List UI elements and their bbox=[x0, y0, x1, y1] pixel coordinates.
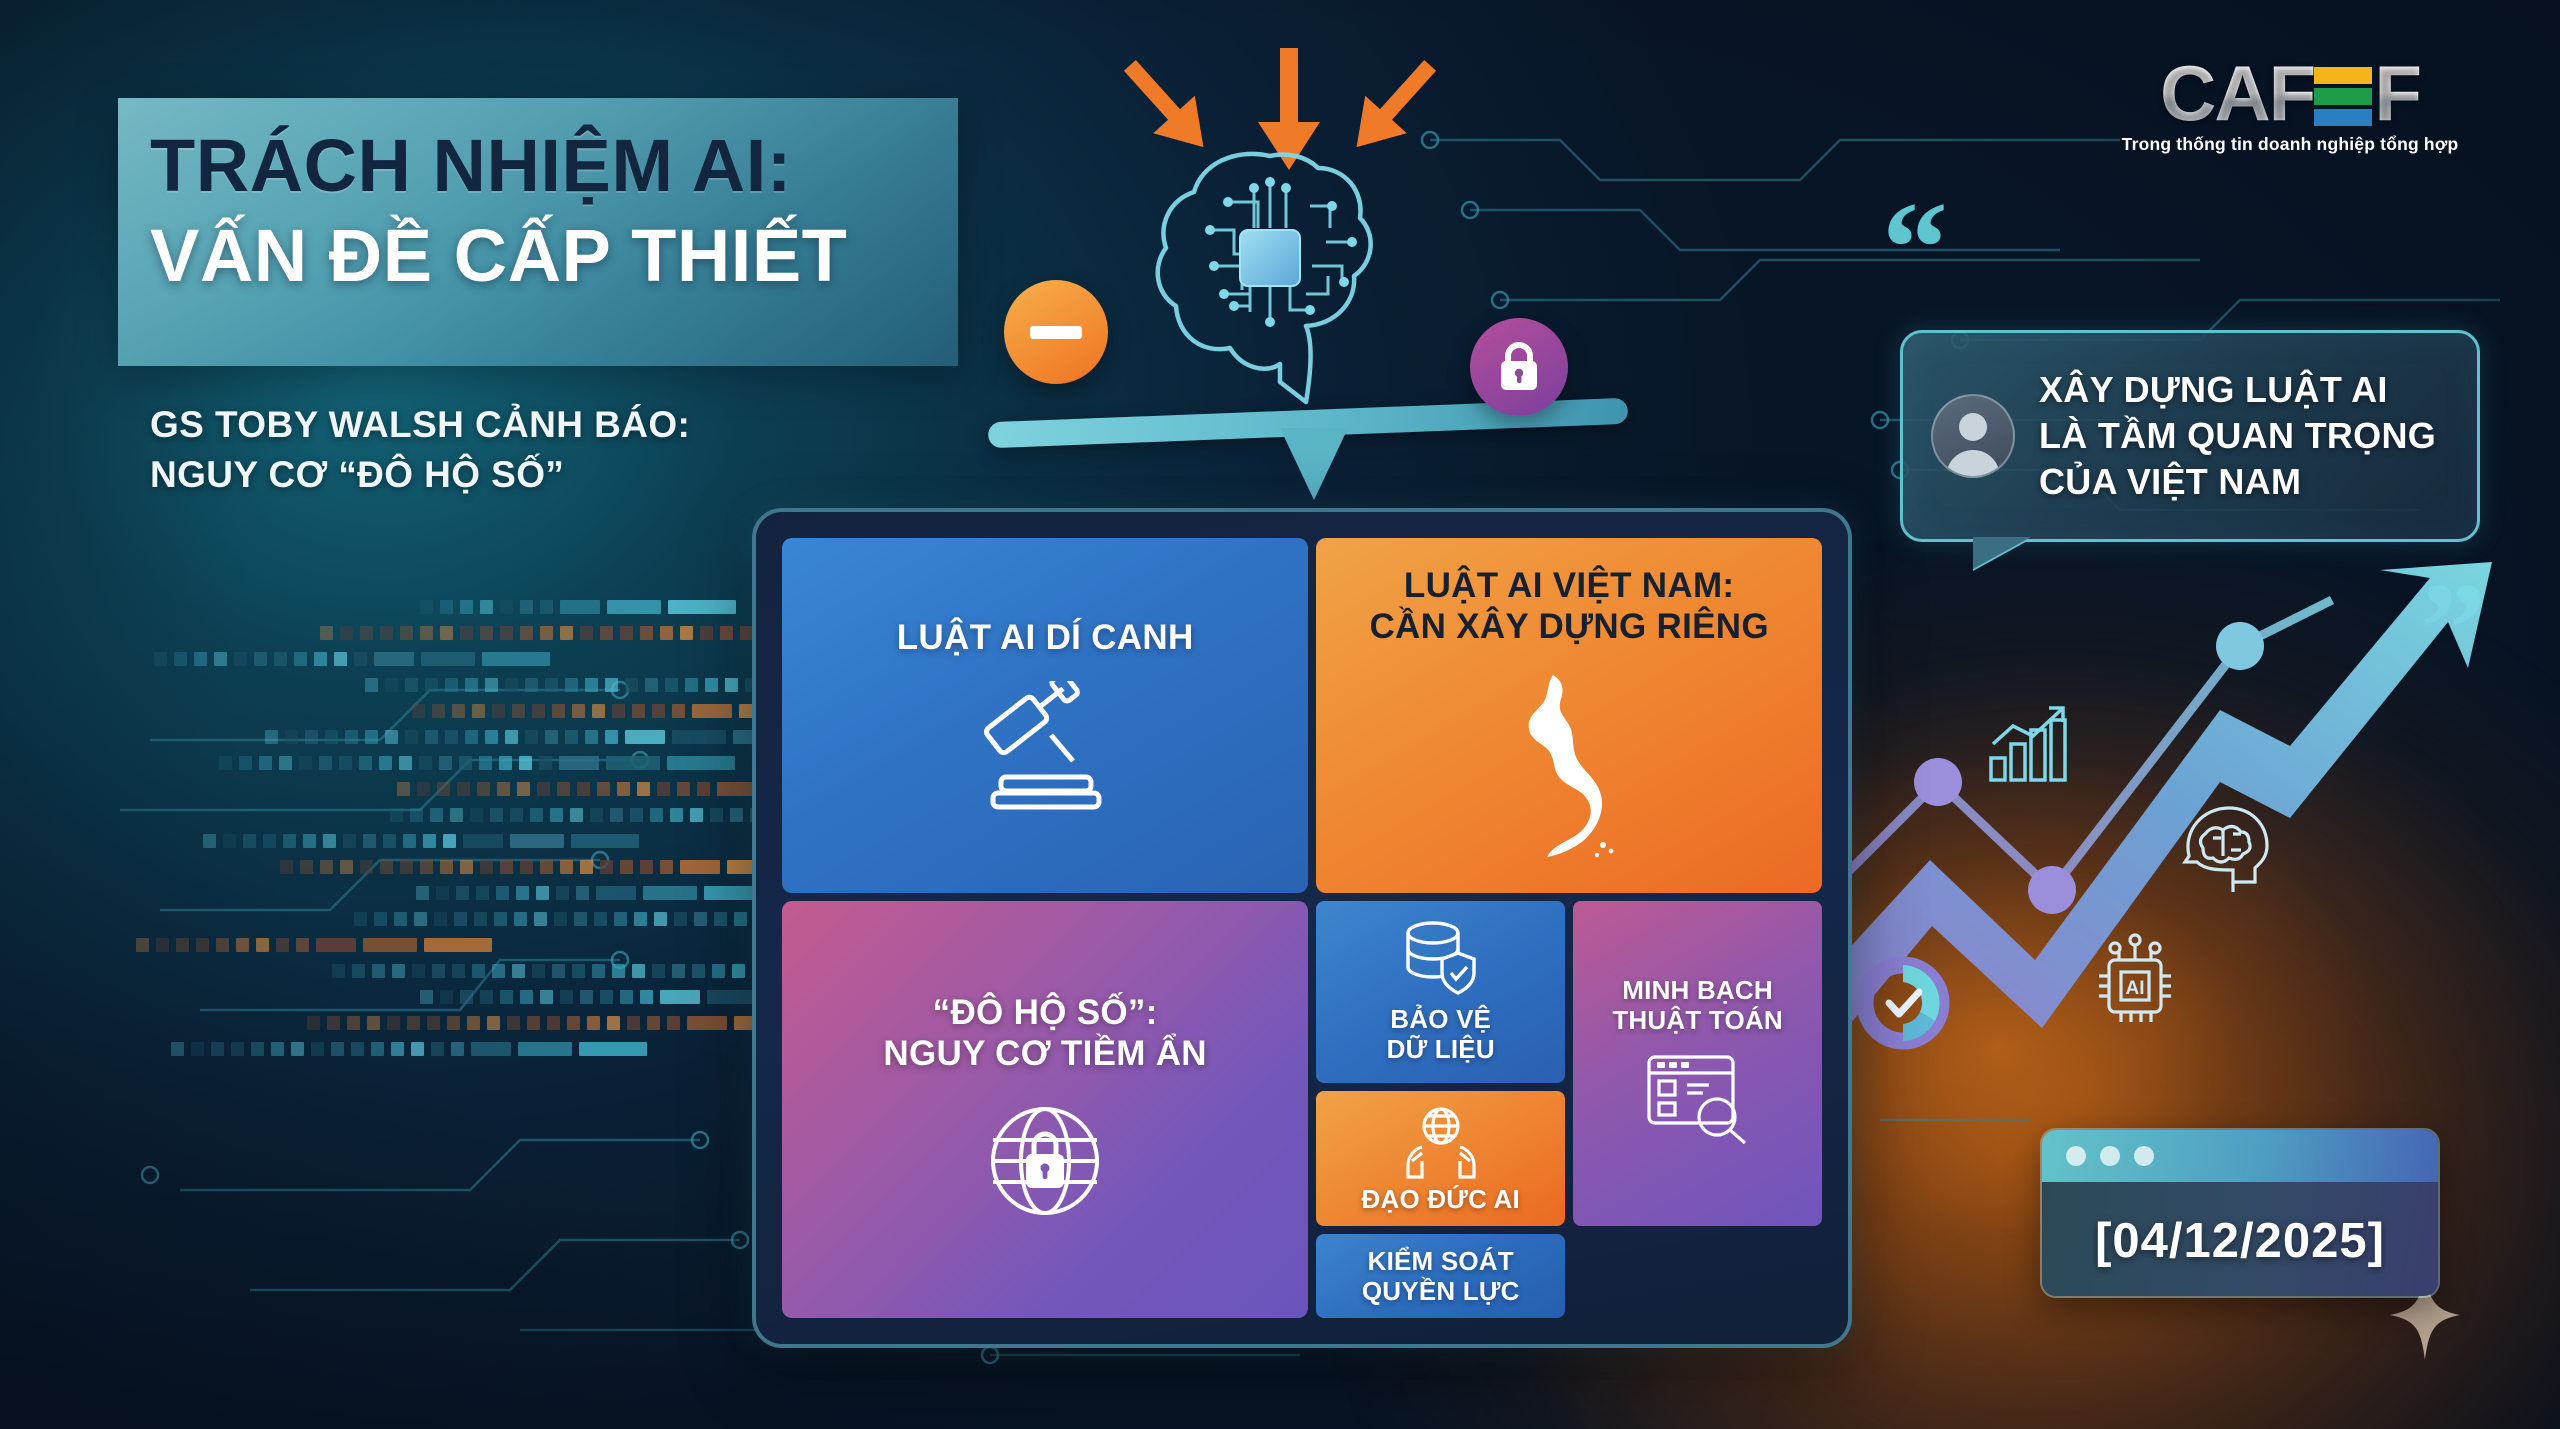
logo-bar-blue bbox=[2314, 109, 2372, 126]
card-data-protection-line-1: BẢO VỆ bbox=[1387, 1004, 1495, 1034]
card-law-drift[interactable]: LUẬT AI DÍ CANH bbox=[782, 538, 1308, 893]
card-grid-panel: LUẬT AI DÍ CANH bbox=[752, 508, 1852, 1348]
headline-line-2: VẤN ĐỀ CẤP THIẾT bbox=[150, 218, 950, 294]
card-digital-colony[interactable]: “ĐÔ HỘ SỐ”: NGUY CƠ TIỀM ẨN bbox=[782, 901, 1308, 1318]
lock-circle-icon bbox=[1470, 318, 1568, 416]
card-data-protection-line-2: DỮ LIỆU bbox=[1387, 1034, 1495, 1064]
gavel-icon bbox=[965, 681, 1125, 813]
subheadline: GS TOBY WALSH CẢNH BÁO: NGUY CƠ “ĐÔ HỘ S… bbox=[150, 400, 970, 501]
logo-e-bars bbox=[2314, 61, 2372, 126]
quote-text: XÂY DỰNG LUẬT AI LÀ TẦM QUAN TRỌNG CỦA V… bbox=[2039, 367, 2436, 505]
infographic-stage: TRÁCH NHIỆM AI: VẤN ĐỀ CẤP THIẾT GS TOBY… bbox=[0, 0, 2560, 1429]
page-title: TRÁCH NHIỆM AI: VẤN ĐỀ CẤP THIẾT bbox=[150, 128, 950, 294]
logo-tagline: Trong thống tin doanh nghiệp tổng hợp bbox=[2110, 134, 2470, 155]
card-ai-ethics-title: ĐẠO ĐỨC AI bbox=[1362, 1184, 1520, 1214]
logo-text-f: F bbox=[2374, 58, 2420, 130]
donut-check-icon bbox=[1855, 955, 1951, 1056]
card-vn-law[interactable]: LUẬT AI VIỆT NAM: CẦN XÂY DỰNG RIÊNG bbox=[1316, 538, 1822, 893]
logo-bar-yellow bbox=[2314, 67, 2372, 84]
circuit-brain-icon bbox=[1130, 130, 1410, 410]
card-vn-law-title-line-1: LUẬT AI VIỆT NAM: bbox=[1369, 566, 1768, 607]
card-data-protection[interactable]: BẢO VỆ DỮ LIỆU bbox=[1316, 901, 1565, 1082]
bar-chart-icon bbox=[1985, 700, 2077, 791]
card-data-protection-title: BẢO VỆ DỮ LIỆU bbox=[1387, 1004, 1495, 1064]
audit-search-icon bbox=[1643, 1051, 1753, 1152]
card-power-control-line-1: KIỂM SOÁT bbox=[1362, 1246, 1520, 1276]
quote-bubble: XÂY DỰNG LUẬT AI LÀ TẦM QUAN TRỌNG CỦA V… bbox=[1900, 330, 2480, 542]
subheadline-line-1: GS TOBY WALSH CẢNH BÁO: bbox=[150, 400, 970, 450]
window-dot-2 bbox=[2100, 1146, 2120, 1166]
avatar bbox=[1931, 394, 2015, 478]
card-algorithm-transparency-title: MINH BẠCH THUẬT TOÁN bbox=[1612, 975, 1783, 1035]
subheadline-line-2: NGUY CƠ “ĐÔ HỘ SỐ” bbox=[150, 450, 970, 500]
vietnam-map-icon bbox=[1509, 669, 1629, 865]
card-ai-ethics[interactable]: ĐẠO ĐỨC AI bbox=[1316, 1091, 1565, 1226]
window-dot-3 bbox=[2134, 1146, 2154, 1166]
card-law-drift-title: LUẬT AI DÍ CANH bbox=[897, 618, 1194, 659]
window-dot-1 bbox=[2066, 1146, 2086, 1166]
database-shield-icon bbox=[1395, 919, 1487, 1004]
card-algorithm-transparency-line-1: MINH BẠCH bbox=[1612, 975, 1783, 1005]
card-algorithm-transparency[interactable]: MINH BẠCH THUẬT TOÁN bbox=[1573, 901, 1822, 1225]
card-power-control-line-2: QUYỀN LỰC bbox=[1362, 1276, 1520, 1306]
card-vn-law-title: LUẬT AI VIỆT NAM: CẦN XÂY DỰNG RIÊNG bbox=[1369, 566, 1768, 647]
logo-bar-green bbox=[2314, 88, 2372, 105]
logo-wordmark: CAF F bbox=[2110, 58, 2470, 130]
card-digital-colony-title-line-2: NGUY CƠ TIỀM ẨN bbox=[883, 1034, 1206, 1075]
date-badge-titlebar bbox=[2042, 1130, 2438, 1182]
quote-line-1: XÂY DỰNG LUẬT AI bbox=[2039, 367, 2436, 413]
minus-circle-icon bbox=[1004, 280, 1108, 384]
card-principles-group: BẢO VỆ DỮ LIỆU MINH BẠCH THUẬT TOÁN bbox=[1316, 901, 1822, 1318]
date-value: [04/12/2025] bbox=[2095, 1213, 2385, 1269]
hands-globe-icon bbox=[1392, 1103, 1490, 1184]
card-digital-colony-title-line-1: “ĐÔ HỘ SỐ”: bbox=[883, 993, 1206, 1034]
card-power-control[interactable]: KIỂM SOÁT QUYỀN LỰC bbox=[1316, 1234, 1565, 1318]
balance-pivot bbox=[1280, 428, 1348, 500]
ai-chip-icon: AI bbox=[2085, 930, 2185, 1035]
card-digital-colony-title: “ĐÔ HỘ SỐ”: NGUY CƠ TIỀM ẨN bbox=[883, 993, 1206, 1074]
quote-line-2: LÀ TẦM QUAN TRỌNG bbox=[2039, 413, 2436, 459]
svg-text:AI: AI bbox=[2126, 978, 2145, 999]
head-brain-icon bbox=[2175, 800, 2273, 901]
quote-callout: “ ” XÂY DỰNG LUẬT AI LÀ TẦM QUAN TRỌNG C… bbox=[1900, 330, 2480, 542]
globe-lock-icon bbox=[980, 1096, 1110, 1226]
headline-line-1: TRÁCH NHIỆM AI: bbox=[150, 128, 950, 204]
logo-text-caf: CAF bbox=[2160, 58, 2314, 130]
quote-open-mark: “ bbox=[1882, 208, 1948, 287]
cafef-logo: CAF F Trong thống tin doanh nghiệp tổng … bbox=[2110, 58, 2470, 155]
date-badge-body: [04/12/2025] bbox=[2042, 1182, 2438, 1298]
card-algorithm-transparency-line-2: THUẬT TOÁN bbox=[1612, 1005, 1783, 1035]
card-vn-law-title-line-2: CẦN XÂY DỰNG RIÊNG bbox=[1369, 607, 1768, 648]
date-badge: [04/12/2025] bbox=[2040, 1128, 2440, 1298]
card-power-control-title: KIỂM SOÁT QUYỀN LỰC bbox=[1362, 1246, 1520, 1306]
quote-line-3: CỦA VIỆT NAM bbox=[2039, 459, 2436, 505]
